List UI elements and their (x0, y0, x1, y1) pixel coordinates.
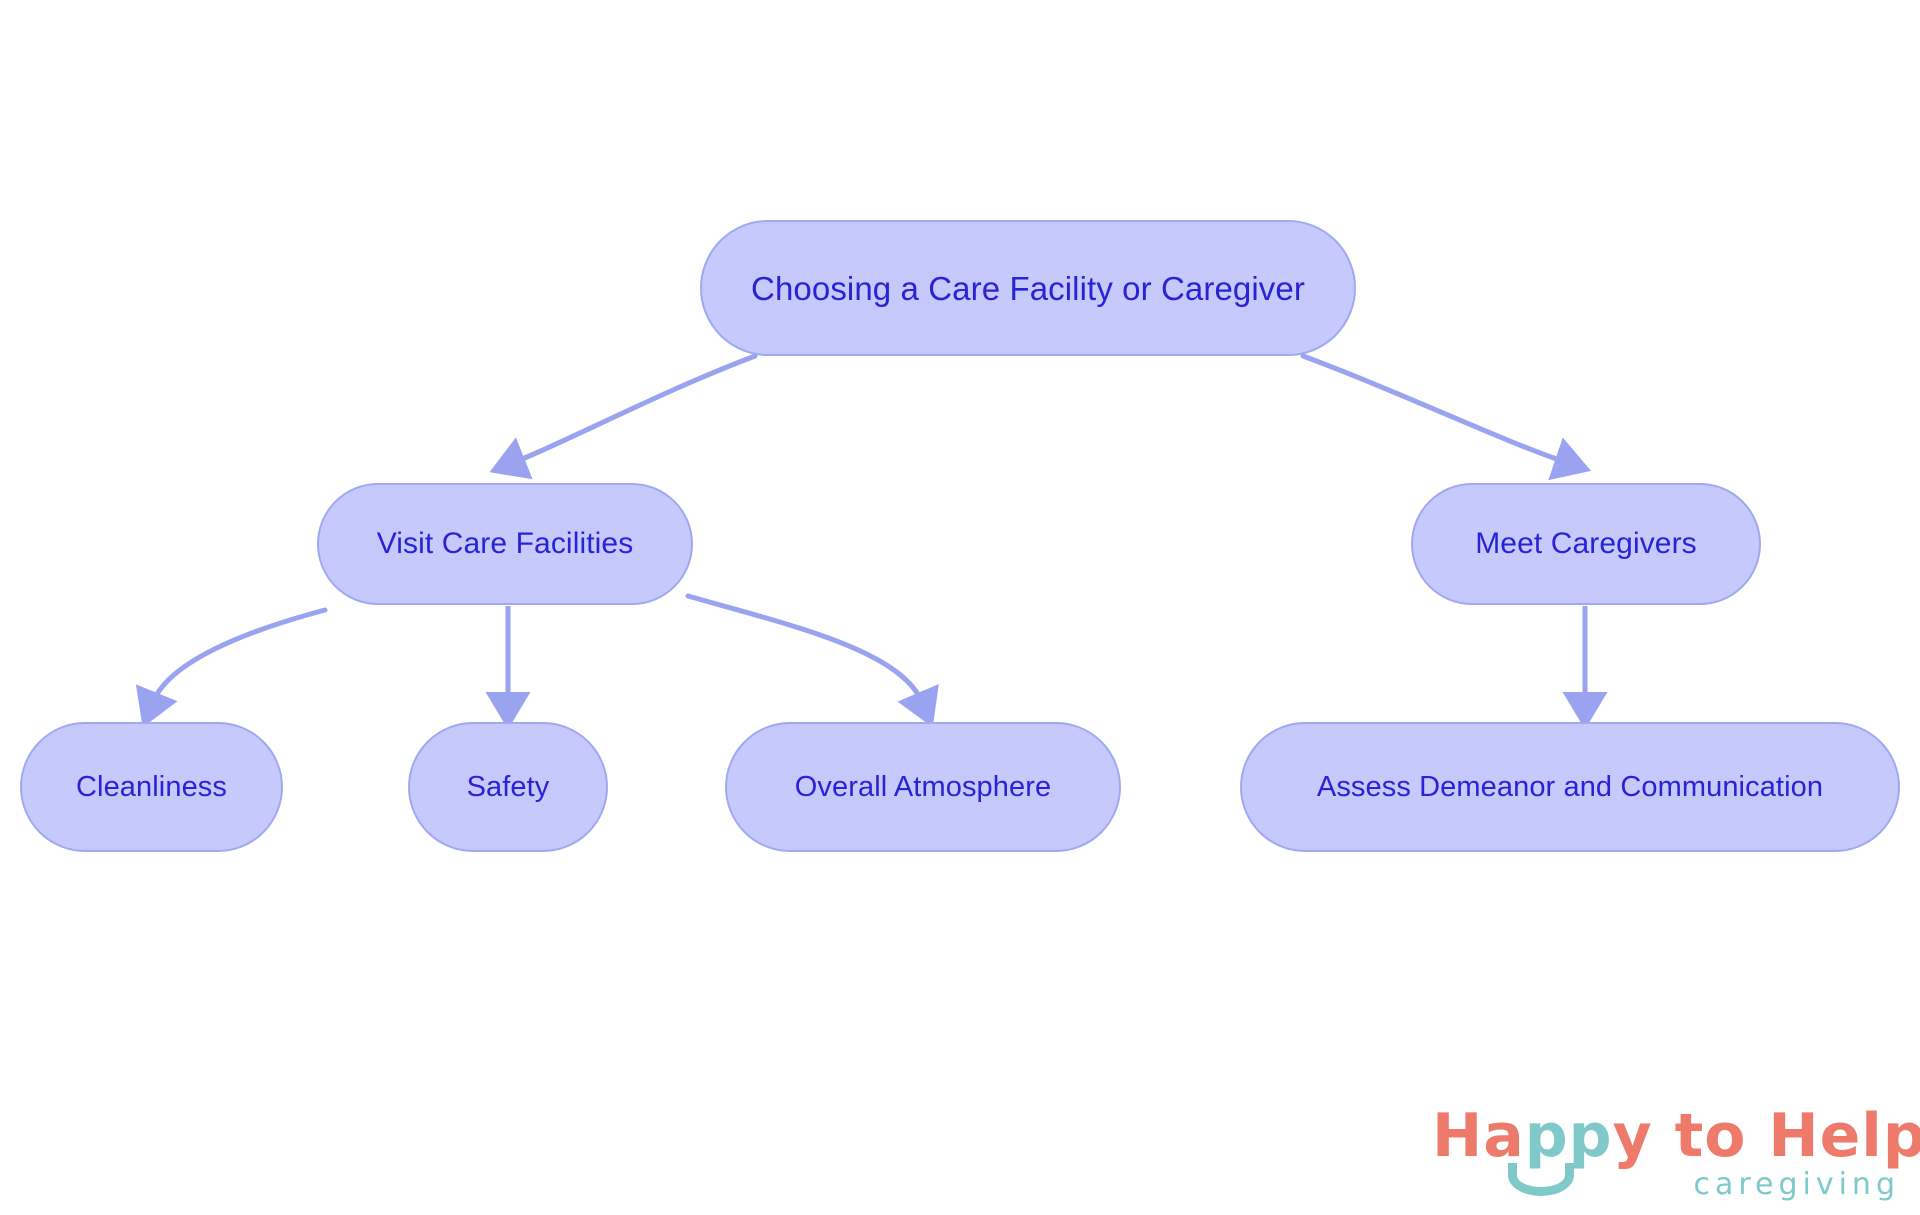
node-label: Meet Caregivers (1475, 529, 1697, 559)
node-overall-atmosphere[interactable]: Overall Atmosphere (725, 722, 1121, 852)
logo-wordmark: Happy to Help (1432, 1105, 1920, 1167)
node-label: Visit Care Facilities (377, 529, 634, 559)
node-assess-demeanor-and-communication[interactable]: Assess Demeanor and Communication (1240, 722, 1900, 852)
node-label: Assess Demeanor and Communication (1317, 773, 1823, 802)
logo-word-part-1: Ha (1432, 1101, 1525, 1171)
edge-visit-to-cleanliness (153, 610, 325, 702)
edge-visit-to-atmosphere (688, 596, 922, 702)
node-choosing-a-care-facility-or-caregiver[interactable]: Choosing a Care Facility or Caregiver (700, 220, 1356, 356)
node-label: Overall Atmosphere (795, 773, 1051, 802)
logo-word-part-teal: pp (1525, 1101, 1613, 1171)
flowchart-canvas: Choosing a Care Facility or Caregiver Vi… (0, 0, 1920, 1215)
node-label: Safety (467, 773, 550, 802)
node-cleanliness[interactable]: Cleanliness (20, 722, 283, 852)
node-label: Cleanliness (76, 773, 227, 802)
logo-word-part-2: y to Help (1613, 1101, 1920, 1171)
edge-root-to-meet (1303, 356, 1565, 462)
brand-logo: Happy to Help caregiving (1432, 1105, 1902, 1210)
node-safety[interactable]: Safety (408, 722, 608, 852)
node-meet-caregivers[interactable]: Meet Caregivers (1411, 483, 1761, 605)
smile-arc-icon (1508, 1163, 1574, 1196)
edge-layer (0, 0, 1920, 1215)
edge-root-to-visit (515, 356, 755, 462)
logo-tagline: caregiving (1693, 1167, 1900, 1202)
node-label: Choosing a Care Facility or Caregiver (751, 272, 1305, 305)
node-visit-care-facilities[interactable]: Visit Care Facilities (317, 483, 693, 605)
